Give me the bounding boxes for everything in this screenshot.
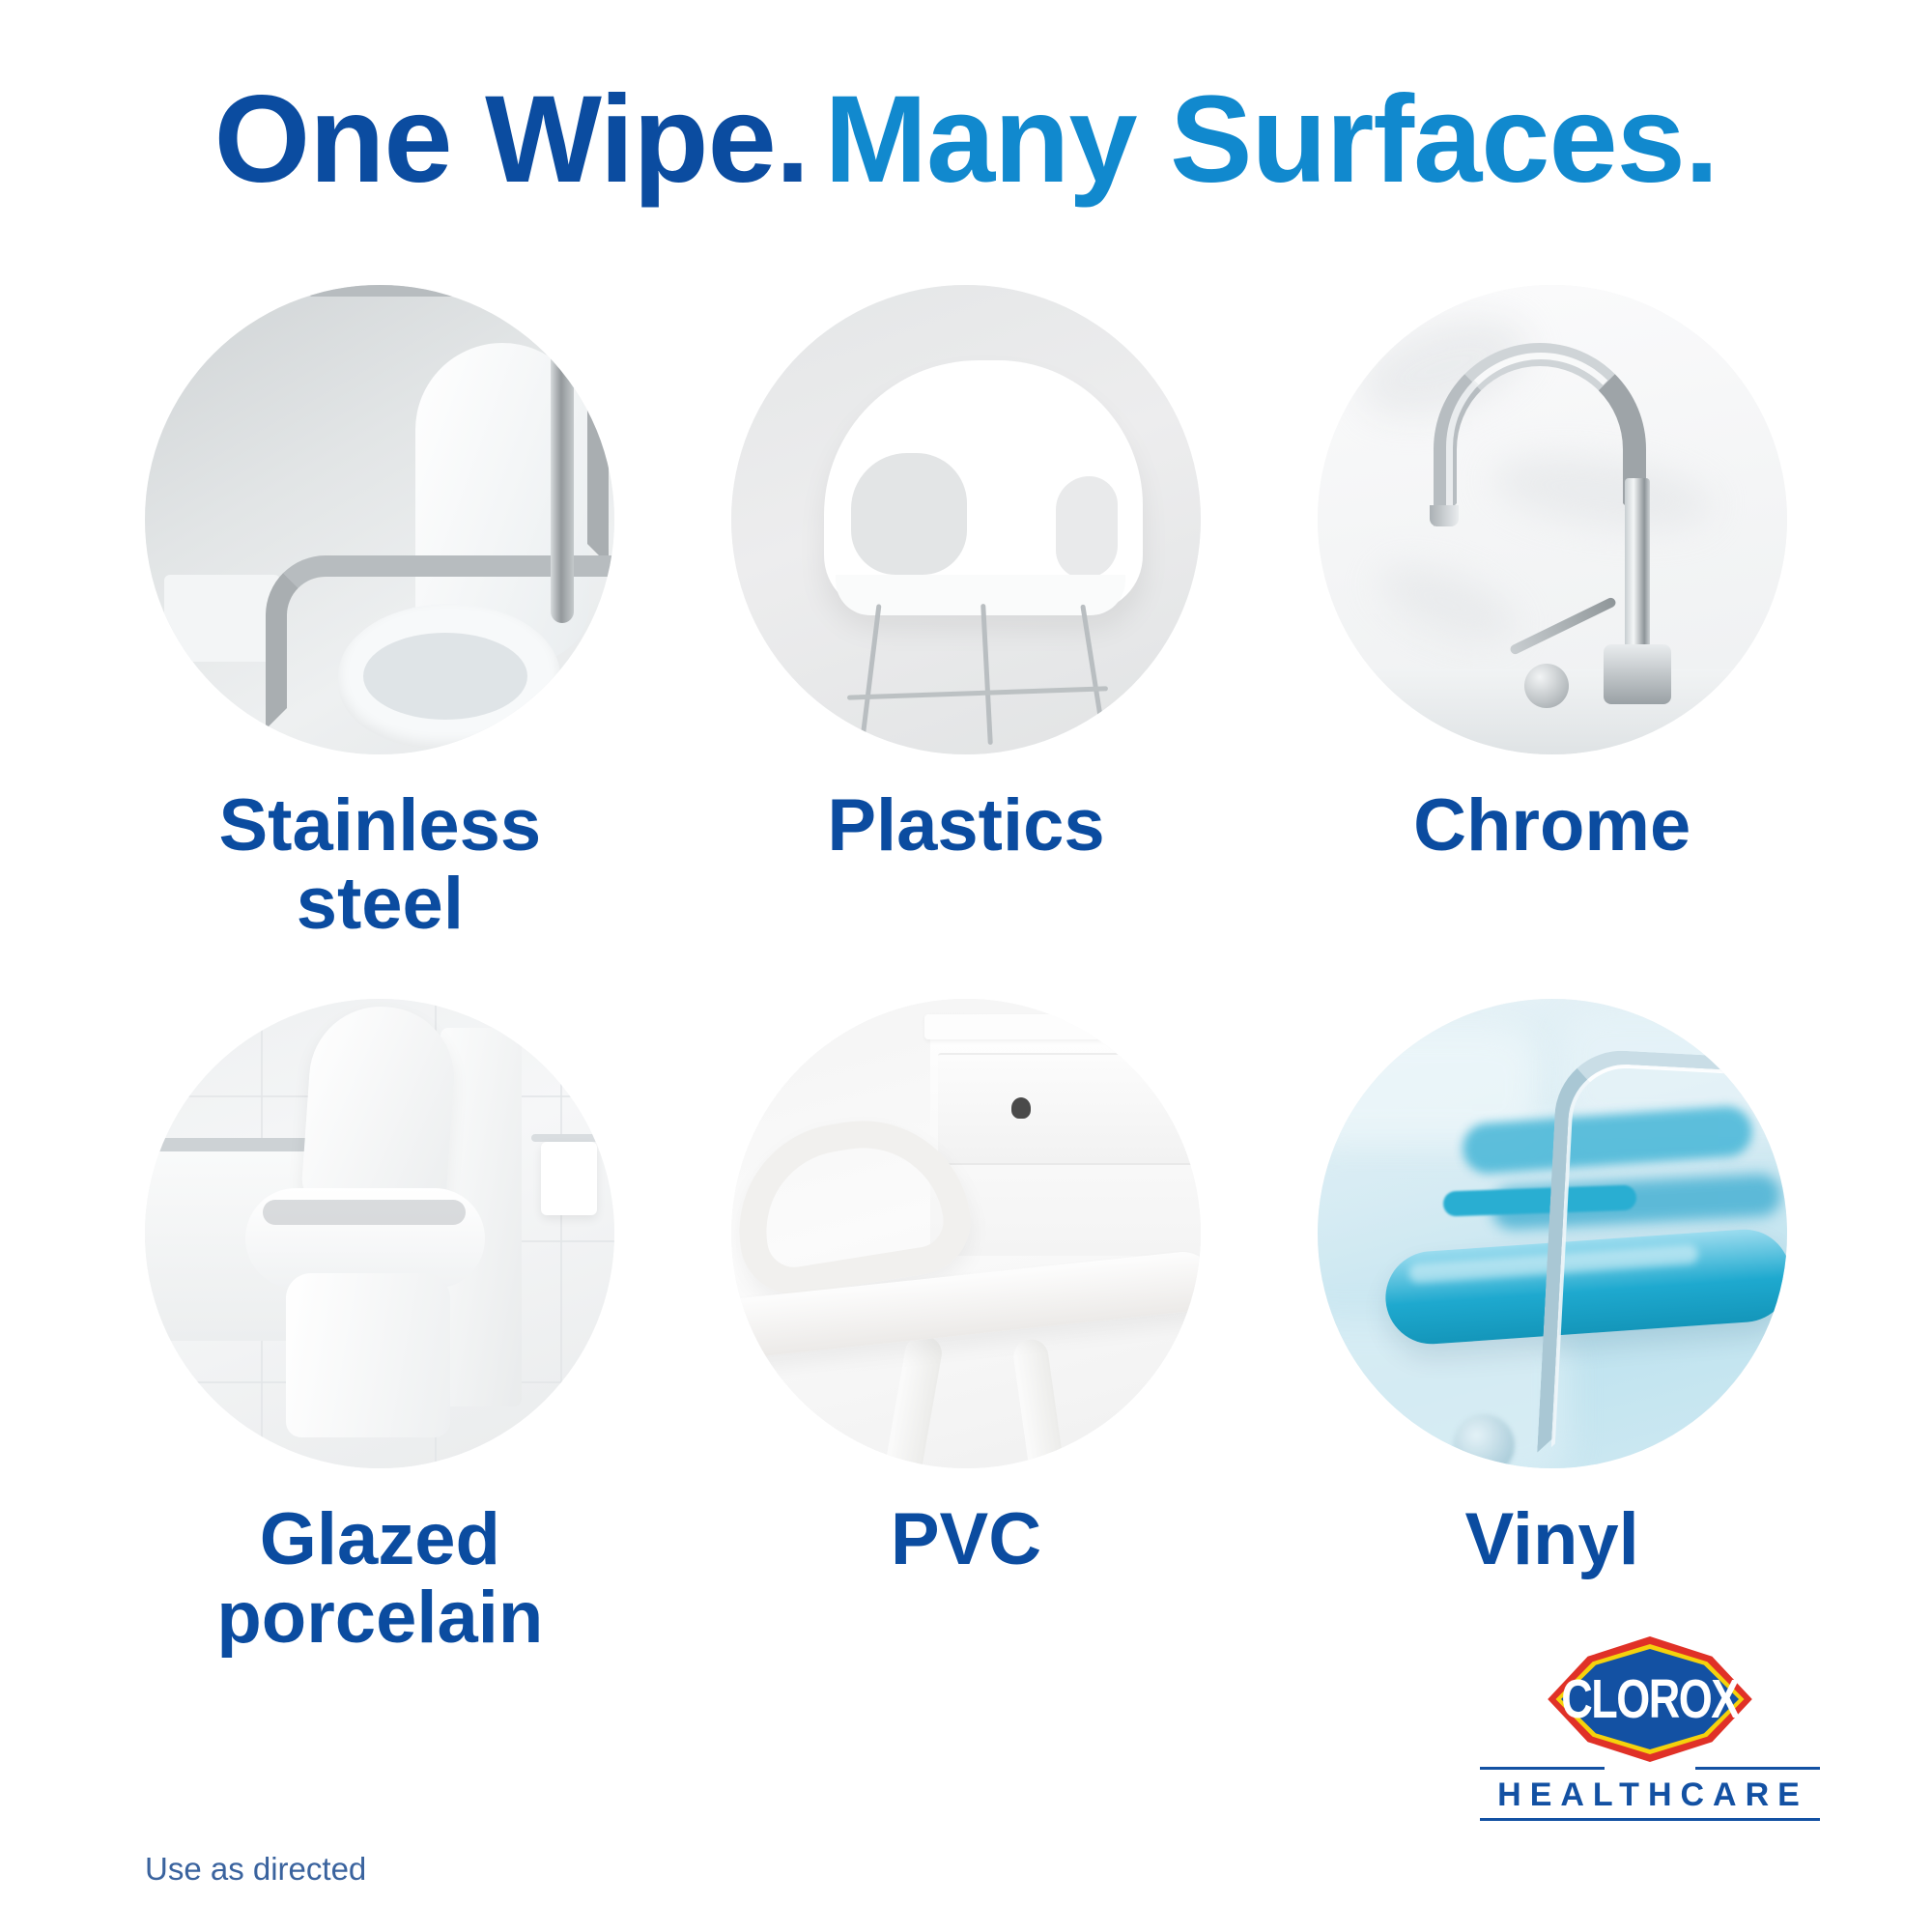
rule-right xyxy=(1695,1767,1820,1770)
cistern-shape xyxy=(164,575,280,662)
clorox-healthcare-logo: CLOROX HEALTHCARE xyxy=(1480,1636,1820,1821)
surface-label-stainless-steel: Stainless steel xyxy=(153,787,607,943)
bed-rail-leg-icon xyxy=(1011,1337,1065,1468)
faucet-column-icon xyxy=(1625,478,1650,652)
chrome-faucet-scene-icon xyxy=(1318,285,1787,754)
bed-rail-leg-icon xyxy=(883,1333,944,1468)
chair-leg-icon xyxy=(860,604,881,739)
pvc-bed-rail-scene-icon xyxy=(731,999,1201,1468)
chair-rail-icon xyxy=(847,686,1108,699)
bathtub-rim-shape xyxy=(145,1138,311,1151)
drawer-shape xyxy=(938,1053,1201,1165)
page-title: One Wipe.Many Surfaces. xyxy=(0,75,1932,205)
surface-label-chrome: Chrome xyxy=(1413,787,1690,866)
faucet-lever-handle-icon xyxy=(1509,596,1617,656)
porcelain-toilet-scene-icon xyxy=(145,999,614,1468)
healthcare-bottom-rule xyxy=(1480,1818,1820,1821)
surface-grid: Stainless steel Plastics xyxy=(87,285,1845,1657)
faucet-highlight-icon xyxy=(1446,353,1635,526)
vinyl-photo xyxy=(1318,999,1787,1468)
chair-leg-icon xyxy=(980,604,993,745)
surface-card-glazed-porcelain: Glazed porcelain xyxy=(87,999,673,1657)
headline-part-two: Many Surfaces. xyxy=(824,71,1718,209)
surface-label-plastics: Plastics xyxy=(827,787,1104,866)
faucet-tip-icon xyxy=(1430,505,1459,526)
pvc-photo xyxy=(731,999,1201,1468)
toilet-lid-icon xyxy=(300,1002,459,1216)
glazed-porcelain-photo xyxy=(145,999,614,1468)
chrome-highlight-icon xyxy=(1550,1062,1770,1458)
faucet-knob-icon xyxy=(1524,664,1569,708)
surface-card-vinyl: Vinyl xyxy=(1259,999,1845,1657)
clorox-diamond-icon: CLOROX xyxy=(1539,1636,1761,1762)
toilet-paper-holder-icon xyxy=(531,1134,605,1142)
surface-card-chrome: Chrome xyxy=(1259,285,1845,943)
faucet-body-icon xyxy=(1604,644,1671,704)
surface-card-pvc: PVC xyxy=(673,999,1260,1657)
surface-label-vinyl: Vinyl xyxy=(1465,1501,1639,1579)
chair-leg-icon xyxy=(1080,604,1106,736)
nightstand-top-shape xyxy=(924,1014,1201,1039)
chair-wheel-icon xyxy=(1453,1414,1515,1468)
tile-grout-line xyxy=(560,999,562,1468)
healthcare-lockup: HEALTHCARE xyxy=(1480,1766,1820,1821)
poster-canvas: One Wipe.Many Surfaces. Stainless steel xyxy=(0,0,1932,1932)
grab-bar-post-icon xyxy=(551,304,574,623)
stainless-steel-photo xyxy=(145,285,614,754)
plastics-photo xyxy=(731,285,1201,754)
drawer-knob-icon xyxy=(1011,1097,1031,1119)
healthcare-wordmark: HEALTHCARE xyxy=(1480,1770,1820,1818)
chair-shell-shape xyxy=(824,360,1143,611)
headline-part-one: One Wipe. xyxy=(214,71,810,209)
rule-left xyxy=(1480,1767,1605,1770)
plastic-chair-scene-icon xyxy=(731,285,1201,754)
surface-label-glazed-porcelain: Glazed porcelain xyxy=(153,1501,607,1657)
surface-row-top: Stainless steel Plastics xyxy=(87,285,1845,943)
surface-row-bottom: Glazed porcelain PVC xyxy=(87,999,1845,1657)
clorox-wordmark: CLOROX xyxy=(1539,1620,1761,1778)
surface-card-stainless-steel: Stainless steel xyxy=(87,285,673,943)
toilet-pedestal-shape xyxy=(286,1273,450,1437)
toilet-paper-roll-icon xyxy=(541,1142,597,1215)
surface-label-pvc: PVC xyxy=(891,1501,1041,1579)
stainless-steel-scene-icon xyxy=(145,285,614,754)
chrome-photo xyxy=(1318,285,1787,754)
marble-vein-shape xyxy=(1370,550,1526,658)
surface-card-plastics: Plastics xyxy=(673,285,1260,943)
use-as-directed-note: Use as directed xyxy=(145,1851,366,1888)
vinyl-chairs-scene-icon xyxy=(1318,999,1787,1468)
